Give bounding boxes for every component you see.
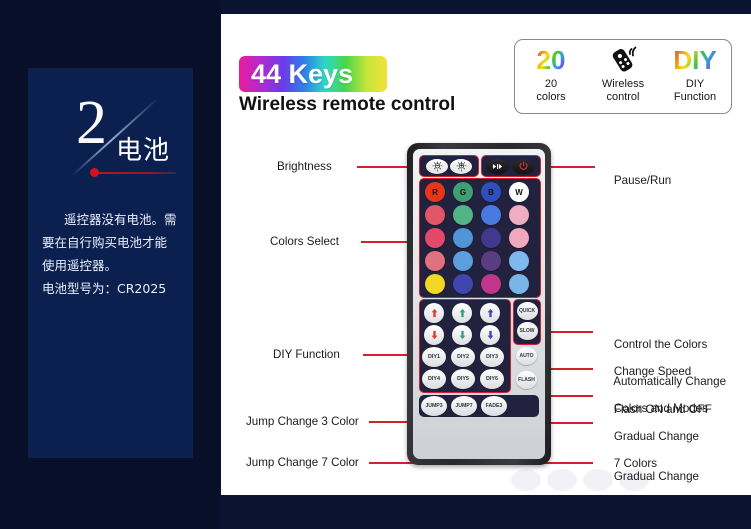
twenty-colors-icon: 20: [537, 45, 566, 75]
color-button-label: G: [460, 188, 466, 197]
color-button-label: B: [488, 188, 494, 197]
speed-button-label: SLOW: [520, 328, 535, 334]
pause-run-button[interactable]: [486, 159, 509, 174]
callout-pause-run: Pause/Run: [601, 160, 671, 201]
bottom-strip: [221, 495, 751, 529]
flash-button[interactable]: FLASH: [516, 371, 537, 389]
callout-line1: Pause/Run: [614, 174, 671, 187]
jump7-button[interactable]: JUMP7: [451, 396, 477, 416]
callout-diy-function: DIY Function: [273, 348, 340, 362]
diy3-button[interactable]: DIY3: [480, 347, 504, 367]
feature-label-line2: control: [606, 91, 639, 103]
step-description: 遥控器没有电池。需 要在自行购买电池才能 使用遥控器。 电池型号为：CR2025: [42, 208, 182, 300]
speed-button-label: QUICK: [519, 308, 535, 314]
feature-label-line1: DIY: [686, 78, 704, 90]
diy2-button[interactable]: DIY2: [451, 347, 475, 367]
color-button[interactable]: [425, 205, 445, 225]
feature-badges: 20 20 colors: [514, 39, 732, 114]
red-down-button[interactable]: [424, 325, 444, 345]
twenty-colors-glyph: 20: [537, 46, 566, 74]
feature-wireless-control: Wireless control: [587, 40, 659, 113]
color-button-label: W: [515, 188, 523, 197]
color-button[interactable]: [509, 205, 529, 225]
callout-line1: Flash ON and OFF: [614, 403, 712, 416]
description-line: 使用遥控器。: [42, 254, 182, 277]
mode-button-label: FLASH: [518, 377, 535, 383]
jump-fade-label: JUMP3: [425, 403, 442, 409]
wireless-remote-icon: [606, 45, 640, 75]
jump-fade-label: FADE3: [486, 403, 503, 409]
leader-line-brightness: [357, 166, 409, 168]
color-button[interactable]: [453, 251, 473, 271]
diy6-button[interactable]: DIY6: [480, 369, 504, 389]
color-button[interactable]: [509, 251, 529, 271]
brightness-group: [419, 155, 479, 177]
quick-button[interactable]: QUICK: [517, 302, 538, 320]
callout-jump-change-7-color: Jump Change 7 Color: [246, 456, 359, 470]
color-button[interactable]: [481, 274, 501, 294]
color-button[interactable]: [509, 274, 529, 294]
diy-button-label: DIY1: [428, 354, 440, 360]
brightness-down-button[interactable]: [426, 159, 448, 174]
color-button[interactable]: [481, 251, 501, 271]
step-badge: 2 电池: [28, 90, 193, 180]
color-button[interactable]: [481, 228, 501, 248]
slow-button[interactable]: SLOW: [517, 322, 538, 340]
left-panel: 2 电池 遥控器没有电池。需 要在自行购买电池才能 使用遥控器。 电池型号为：C…: [0, 0, 221, 529]
diy-glyph: DIY: [673, 46, 716, 74]
speed-group: QUICK SLOW: [513, 299, 541, 345]
diy-button-label: DIY2: [457, 354, 469, 360]
brightness-up-button[interactable]: [450, 159, 472, 174]
step-label-cn: 电池: [116, 130, 170, 167]
leader-line-pause-run: [551, 166, 595, 168]
keys-banner-label: 44 Keys: [251, 59, 353, 90]
jump-fade-label: JUMP7: [455, 403, 472, 409]
callout-line1: Gradual Change: [614, 430, 699, 443]
leader-line-auto: [551, 368, 593, 370]
color-select-grid: R G B W: [419, 178, 541, 298]
red-up-button[interactable]: [424, 303, 444, 323]
diy4-button[interactable]: DIY4: [422, 369, 446, 389]
color-button-b[interactable]: B: [481, 182, 501, 202]
description-line: 要在自行购买电池才能: [42, 231, 182, 254]
leader-line-flash: [551, 395, 593, 397]
product-subtitle: Wireless remote control: [239, 94, 455, 116]
remote-control: R G B W: [407, 143, 551, 465]
description-line: 遥控器没有电池。需: [42, 208, 182, 231]
keys-banner: 44 Keys: [239, 56, 387, 92]
leader-line-speed: [551, 331, 593, 333]
color-button[interactable]: [453, 274, 473, 294]
jump-fade-group: JUMP3 JUMP7 FADE3: [419, 395, 539, 417]
diy-button-label: DIY5: [457, 376, 469, 382]
callout-colors-select: Colors Select: [270, 235, 339, 249]
diy5-button[interactable]: DIY5: [451, 369, 475, 389]
auto-button[interactable]: AUTO: [516, 347, 537, 365]
color-button-r[interactable]: R: [425, 182, 445, 202]
step-card: 2 电池 遥控器没有电池。需 要在自行购买电池才能 使用遥控器。 电池型号为：C…: [28, 68, 193, 458]
power-button[interactable]: [512, 159, 535, 174]
color-button[interactable]: [481, 205, 501, 225]
step-underline: [98, 172, 176, 174]
diy1-button[interactable]: DIY1: [422, 347, 446, 367]
color-button-g[interactable]: G: [453, 182, 473, 202]
jump3-button[interactable]: JUMP3: [421, 396, 447, 416]
diy-button-label: DIY4: [428, 376, 440, 382]
color-button[interactable]: [425, 228, 445, 248]
leader-line-diy: [363, 354, 411, 356]
color-button-label: R: [432, 188, 438, 197]
callout-jump-change-3-color: Jump Change 3 Color: [246, 415, 359, 429]
diy-icon: DIY: [673, 45, 716, 75]
leader-line-gradual7: [551, 422, 593, 424]
description-line: 电池型号为：CR2025: [42, 277, 182, 300]
feature-20-colors: 20 20 colors: [515, 40, 587, 113]
color-button[interactable]: [453, 205, 473, 225]
green-down-button[interactable]: [452, 325, 472, 345]
diy-button-label: DIY6: [486, 376, 498, 382]
blue-up-button[interactable]: [480, 303, 500, 323]
feature-label-line2: Function: [674, 91, 716, 103]
fade3-button[interactable]: FADE3: [481, 396, 507, 416]
arrows-diy-group: DIY1 DIY2 DIY3 DIY4 DIY5 DIY6: [419, 299, 511, 393]
blue-down-button[interactable]: [480, 325, 500, 345]
feature-label-line2: colors: [536, 91, 565, 103]
mode-button-label: AUTO: [519, 353, 533, 359]
color-button[interactable]: [509, 228, 529, 248]
color-button-w[interactable]: W: [509, 182, 529, 202]
callout-brightness: Brightness: [277, 160, 332, 174]
leader-line-colors-select: [361, 241, 411, 243]
callout-line1: Automatically Change: [613, 375, 726, 388]
power-group: [481, 155, 541, 177]
feature-label-line1: Wireless: [602, 78, 644, 90]
color-button[interactable]: [425, 274, 445, 294]
feature-diy-function: DIY DIY Function: [659, 40, 731, 113]
color-button[interactable]: [425, 251, 445, 271]
diy-button-label: DIY3: [486, 354, 498, 360]
step-number: 2: [76, 92, 107, 154]
color-button[interactable]: [453, 228, 473, 248]
feature-label-line1: 20: [545, 78, 557, 90]
green-up-button[interactable]: [452, 303, 472, 323]
remote-face: R G B W: [413, 149, 545, 459]
product-info-sheet: 44 Keys Wireless remote control 20 20 co…: [221, 14, 751, 495]
callout-line1: Control the Colors: [614, 338, 707, 351]
